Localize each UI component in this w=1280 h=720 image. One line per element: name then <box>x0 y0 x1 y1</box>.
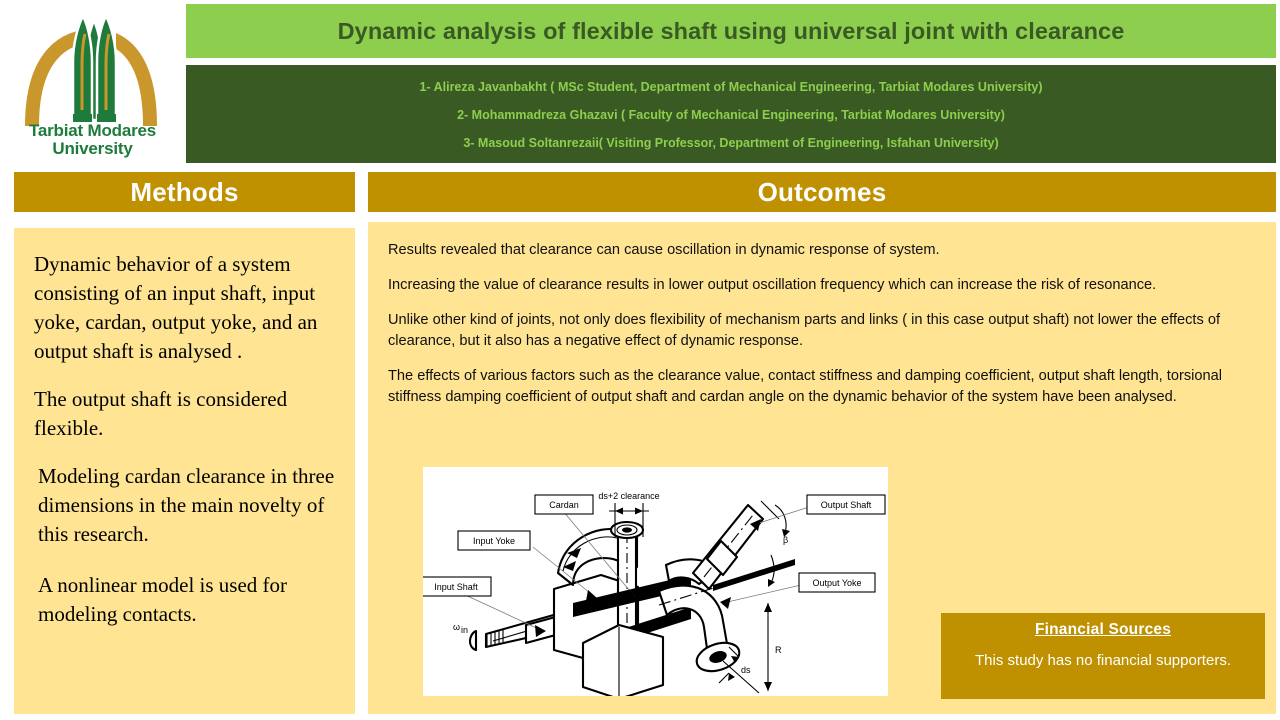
output-yoke-label: Output Yoke <box>812 578 861 588</box>
poster-root: Tarbiat Modares University Dynamic analy… <box>0 0 1280 720</box>
university-logo: Tarbiat Modares University <box>0 0 185 168</box>
cardan-label: Cardan <box>549 500 579 510</box>
universal-joint-diagram: ds+2 clearance R ds β ω in <box>423 467 888 696</box>
author-line-1: 1- Alireza Javanbakht ( MSc Student, Dep… <box>419 80 1042 94</box>
methods-paragraph-4: A nonlinear model is used for modeling c… <box>34 571 339 629</box>
outcomes-paragraph-1: Results revealed that clearance can caus… <box>388 240 1266 261</box>
logo-wordmark: Tarbiat Modares University <box>0 122 185 158</box>
outcomes-section-header: Outcomes <box>368 172 1276 212</box>
methods-panel: Dynamic behavior of a system consisting … <box>14 228 355 714</box>
financial-sources-box: Financial Sources This study has no fina… <box>941 613 1265 699</box>
ds-label: ds <box>741 665 751 675</box>
methods-heading: Methods <box>130 177 238 208</box>
outcomes-paragraph-4: The effects of various factors such as t… <box>388 366 1266 408</box>
label-output-shaft: Output Shaft <box>750 495 885 531</box>
author-line-2: 2- Mohammadreza Ghazavi ( Faculty of Mec… <box>457 108 1005 122</box>
methods-section-header: Methods <box>14 172 355 212</box>
author-line-3: 3- Masoud Soltanrezaii( Visiting Profess… <box>463 136 998 150</box>
methods-paragraph-2: The output shaft is considered flexible. <box>34 385 339 443</box>
outcomes-text-body: Results revealed that clearance can caus… <box>388 240 1266 422</box>
clearance-dimension-label: ds+2 clearance <box>598 491 659 501</box>
financial-sources-text: This study has no financial supporters. <box>941 652 1265 669</box>
beta-angle-label: β <box>783 535 788 545</box>
input-yoke-label: Input Yoke <box>473 536 515 546</box>
logo-name-line2: University <box>0 140 185 158</box>
radius-label: R <box>775 645 782 655</box>
outcomes-heading: Outcomes <box>758 177 887 208</box>
omega-subscript-label: in <box>461 625 468 635</box>
outcomes-paragraph-2: Increasing the value of clearance result… <box>388 275 1266 296</box>
logo-mark-icon <box>10 10 175 130</box>
authors-bar: 1- Alireza Javanbakht ( MSc Student, Dep… <box>186 65 1276 163</box>
poster-title-bar: Dynamic analysis of flexible shaft using… <box>186 4 1276 58</box>
page-title: Dynamic analysis of flexible shaft using… <box>338 18 1125 45</box>
methods-paragraph-3: Modeling cardan clearance in three dimen… <box>34 462 339 549</box>
methods-paragraph-1: Dynamic behavior of a system consisting … <box>34 250 339 366</box>
omega-label: ω <box>453 622 460 632</box>
financial-sources-title: Financial Sources <box>941 621 1265 639</box>
logo-name-line1: Tarbiat Modares <box>29 121 156 140</box>
input-shaft-label: Input Shaft <box>434 582 478 592</box>
universal-joint-figure-icon: ds+2 clearance R ds β ω in <box>423 467 888 696</box>
radius-dimension: R <box>764 603 782 691</box>
outcomes-paragraph-3: Unlike other kind of joints, not only do… <box>388 310 1266 352</box>
output-shaft-label: Output Shaft <box>821 500 872 510</box>
methods-text-body: Dynamic behavior of a system consisting … <box>34 250 339 651</box>
